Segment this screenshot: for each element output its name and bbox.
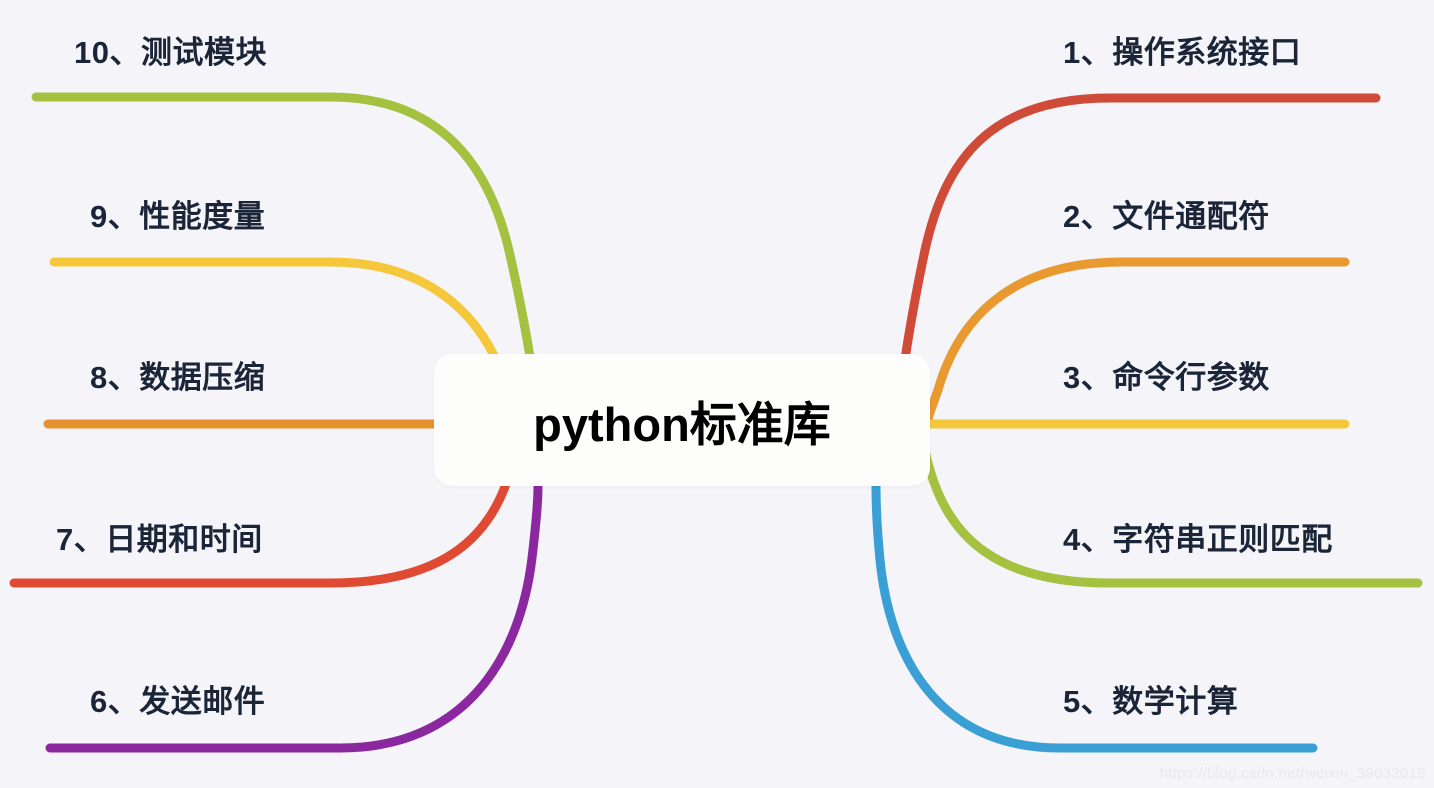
branch-label-1[interactable]: 1、操作系统接口 (1063, 36, 1301, 70)
branch-label-7[interactable]: 7、日期和时间 (56, 523, 263, 557)
branch-label-10[interactable]: 10、测试模块 (74, 36, 267, 70)
branch-label-5[interactable]: 5、数学计算 (1063, 685, 1238, 719)
branch-curve-4 (921, 428, 1418, 583)
branch-label-3[interactable]: 3、命令行参数 (1063, 361, 1270, 395)
branch-label-4[interactable]: 4、字符串正则匹配 (1063, 523, 1333, 557)
branch-label-9[interactable]: 9、性能度量 (90, 200, 265, 234)
branch-curve-2 (927, 262, 1345, 424)
center-node-title: python标准库 (533, 386, 831, 455)
branch-label-6[interactable]: 6、发送邮件 (90, 685, 265, 719)
branch-label-2[interactable]: 2、文件通配符 (1063, 200, 1270, 234)
watermark-text: https://blog.csdn.net/weixin_39032019 (1160, 765, 1426, 782)
branch-label-8[interactable]: 8、数据压缩 (90, 361, 265, 395)
mindmap-canvas: 1、操作系统接口 2、文件通配符 3、命令行参数 4、字符串正则匹配 5、数学计… (0, 0, 1434, 788)
center-node[interactable]: python标准库 (434, 354, 930, 486)
